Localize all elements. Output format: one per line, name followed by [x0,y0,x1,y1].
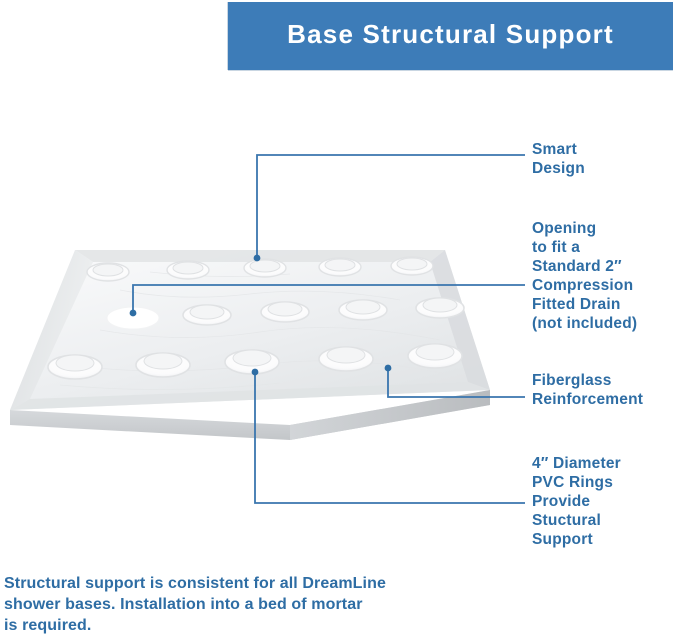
pvc-ring [48,355,102,379]
pvc-ring [408,344,462,368]
infographic-page: Base Structural Support [0,0,679,641]
pvc-ring [319,347,373,371]
pvc-ring [183,305,231,325]
pvc-ring [136,353,190,377]
callout-fiberglass-reinforcement: Fiberglass Reinforcement [532,371,643,409]
callout-pvc-rings-support: 4″ Diameter PVC Rings Provide Stuctural … [532,454,621,549]
pvc-ring [244,259,286,277]
base-inner-pan [30,262,468,399]
pvc-ring [261,302,309,322]
pvc-ring [339,300,387,320]
pvc-ring [391,257,433,275]
pvc-ring [319,258,361,276]
shower-base-svg [0,210,520,440]
header-banner: Base Structural Support [228,2,673,70]
base-right-face [290,390,490,440]
pvc-ring [416,298,464,318]
callout-opening-to-fit-drain: Opening to fit a Standard 2″ Compression… [532,219,637,333]
pvc-ring [167,261,209,279]
pvc-ring [225,350,279,374]
drain-opening [107,307,159,329]
pvc-ring [87,263,129,281]
footer-caption: Structural support is consistent for all… [4,573,474,636]
shower-base-illustration [0,210,520,440]
base-body [10,250,490,440]
page-title: Base Structural Support [228,19,673,50]
callout-smart-design: Smart Design [532,140,585,178]
